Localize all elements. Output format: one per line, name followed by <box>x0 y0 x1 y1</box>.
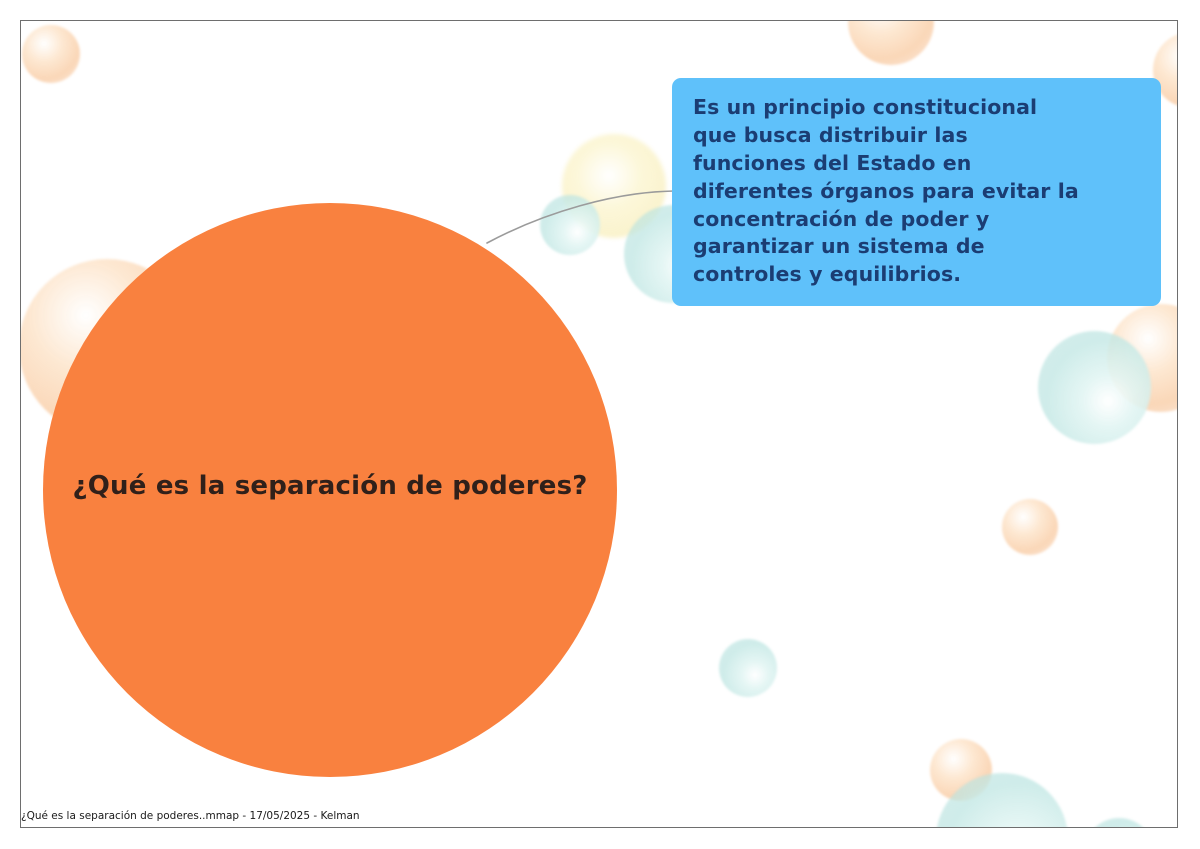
topic-node-text: Es un principio constitucional que busca… <box>693 94 1143 289</box>
topic-node-definition[interactable]: Es un principio constitucional que busca… <box>672 78 1161 306</box>
central-topic-label: ¿Qué es la separación de poderes? <box>72 471 587 501</box>
bubble-teal-bottom-center <box>719 639 777 697</box>
document-footer: ¿Qué es la separación de poderes..mmap -… <box>21 810 360 822</box>
bubble-teal-right-mid <box>1038 331 1151 444</box>
bubble-teal-small-center <box>540 195 600 255</box>
mindmap-canvas: ¿Qué es la separación de poderes? Es un … <box>0 0 1200 849</box>
central-topic-node[interactable]: ¿Qué es la separación de poderes? <box>43 203 617 777</box>
bubble-teal-bottom-edge <box>1084 818 1154 827</box>
bubble-peach-top-center <box>848 21 934 65</box>
bubble-peach-right-lower <box>1002 499 1058 555</box>
bubble-peach-top-left <box>22 25 80 83</box>
